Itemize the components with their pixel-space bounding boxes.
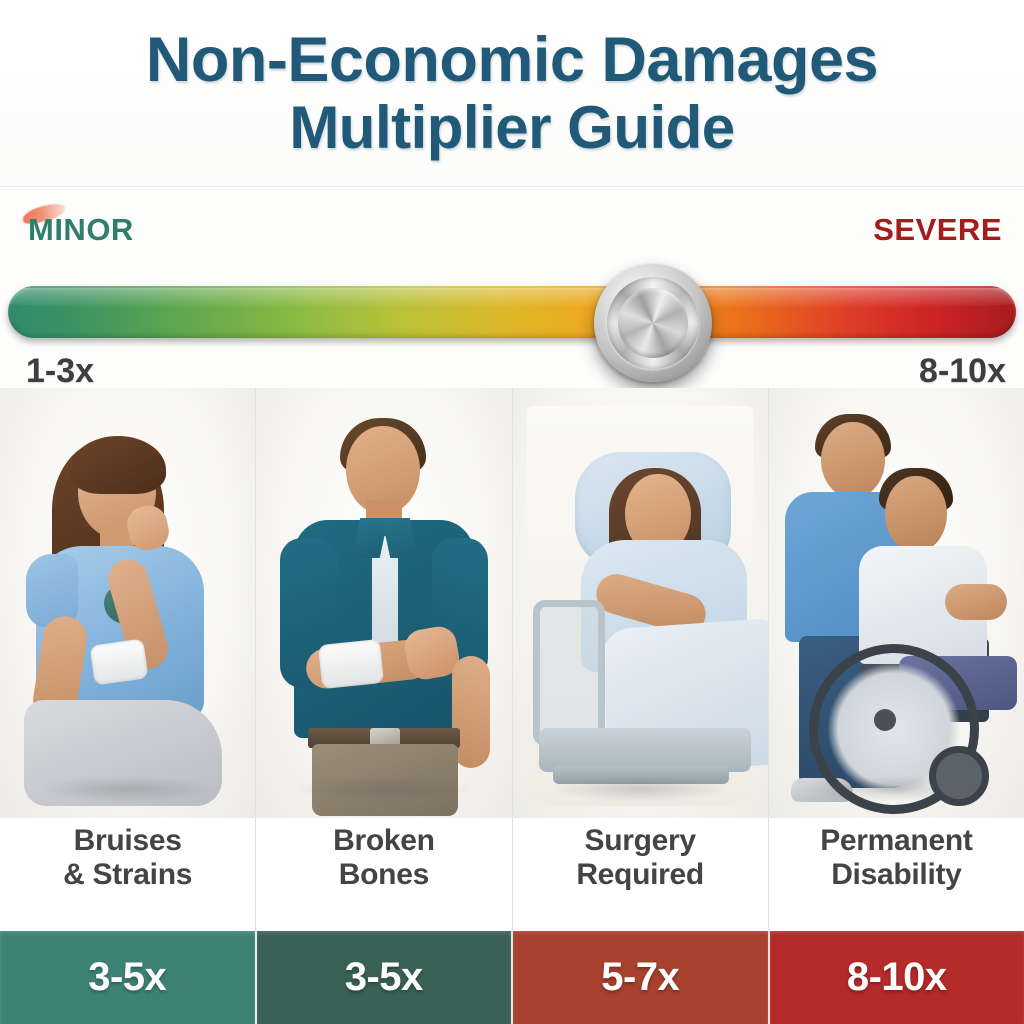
seated-patient-head bbox=[885, 476, 947, 552]
header: Non-Economic Damages Multiplier Guide bbox=[0, 0, 1024, 187]
caption-line-2: Disability bbox=[769, 858, 1024, 892]
woman-hair-front bbox=[70, 436, 166, 494]
figure-shadow bbox=[551, 776, 730, 802]
panel-caption: Permanent Disability bbox=[769, 824, 1024, 891]
slider-gradient-track[interactable] bbox=[8, 286, 1016, 338]
track-gloss-overlay bbox=[8, 288, 1016, 308]
caption-line-2: & Strains bbox=[0, 858, 255, 892]
value-cell-disability: 8-10x bbox=[770, 931, 1024, 1024]
panel-permanent-disability[interactable]: Permanent Disability bbox=[768, 388, 1024, 931]
scale-label-minor: MINOR bbox=[28, 212, 134, 248]
multiplier-value-bar: 3-5x 3-5x 5-7x 8-10x bbox=[0, 931, 1024, 1024]
infographic-root: Non-Economic Damages Multiplier Guide MI… bbox=[0, 0, 1024, 1024]
panel-surgery-required[interactable]: Surgery Required bbox=[512, 388, 768, 931]
illustration-standing-man bbox=[256, 388, 511, 818]
panel-caption: Surgery Required bbox=[513, 824, 768, 891]
knob-brushed-face bbox=[618, 288, 688, 358]
caption-line-2: Bones bbox=[256, 858, 511, 892]
panel-caption: Bruises & Strains bbox=[0, 824, 255, 891]
caption-line-1: Bruises bbox=[0, 824, 255, 858]
seated-patient-arm bbox=[945, 584, 1007, 620]
value-cell-bruises: 3-5x bbox=[0, 931, 257, 1024]
page-title-line-2: Multiplier Guide bbox=[289, 97, 734, 159]
bed-side-rail bbox=[533, 600, 605, 746]
severity-slider[interactable]: MINOR SEVERE 1-3x 8-10x bbox=[0, 186, 1024, 401]
caption-line-1: Surgery bbox=[513, 824, 768, 858]
page-title-line-1: Non-Economic Damages bbox=[146, 28, 878, 93]
caption-line-1: Permanent bbox=[769, 824, 1024, 858]
caption-line-2: Required bbox=[513, 858, 768, 892]
panel-caption: Broken Bones bbox=[256, 824, 511, 891]
wrist-bandage bbox=[89, 638, 148, 685]
multiplier-min: 1-3x bbox=[26, 352, 94, 391]
forearm-bandage bbox=[318, 639, 384, 689]
value-cell-surgery: 5-7x bbox=[513, 931, 770, 1024]
scale-label-severe: SEVERE bbox=[873, 212, 1002, 248]
caregiver-head bbox=[821, 422, 885, 498]
figure-shadow bbox=[807, 776, 986, 802]
caption-line-1: Broken bbox=[256, 824, 511, 858]
wheel-hub bbox=[874, 709, 896, 731]
panel-bruises-and-strains[interactable]: Bruises & Strains bbox=[0, 388, 255, 931]
multiplier-max: 8-10x bbox=[919, 352, 1006, 391]
severity-panels: Bruises & Strains bbox=[0, 388, 1024, 931]
value-cell-broken-bones: 3-5x bbox=[257, 931, 514, 1024]
figure-shadow bbox=[295, 776, 474, 802]
panel-broken-bones[interactable]: Broken Bones bbox=[255, 388, 511, 931]
figure-shadow bbox=[38, 776, 217, 802]
illustration-wheelchair bbox=[769, 388, 1024, 818]
slider-track-wrapper[interactable] bbox=[8, 286, 1016, 342]
illustration-hospital-bed bbox=[513, 388, 768, 818]
illustration-seated-woman bbox=[0, 388, 255, 818]
